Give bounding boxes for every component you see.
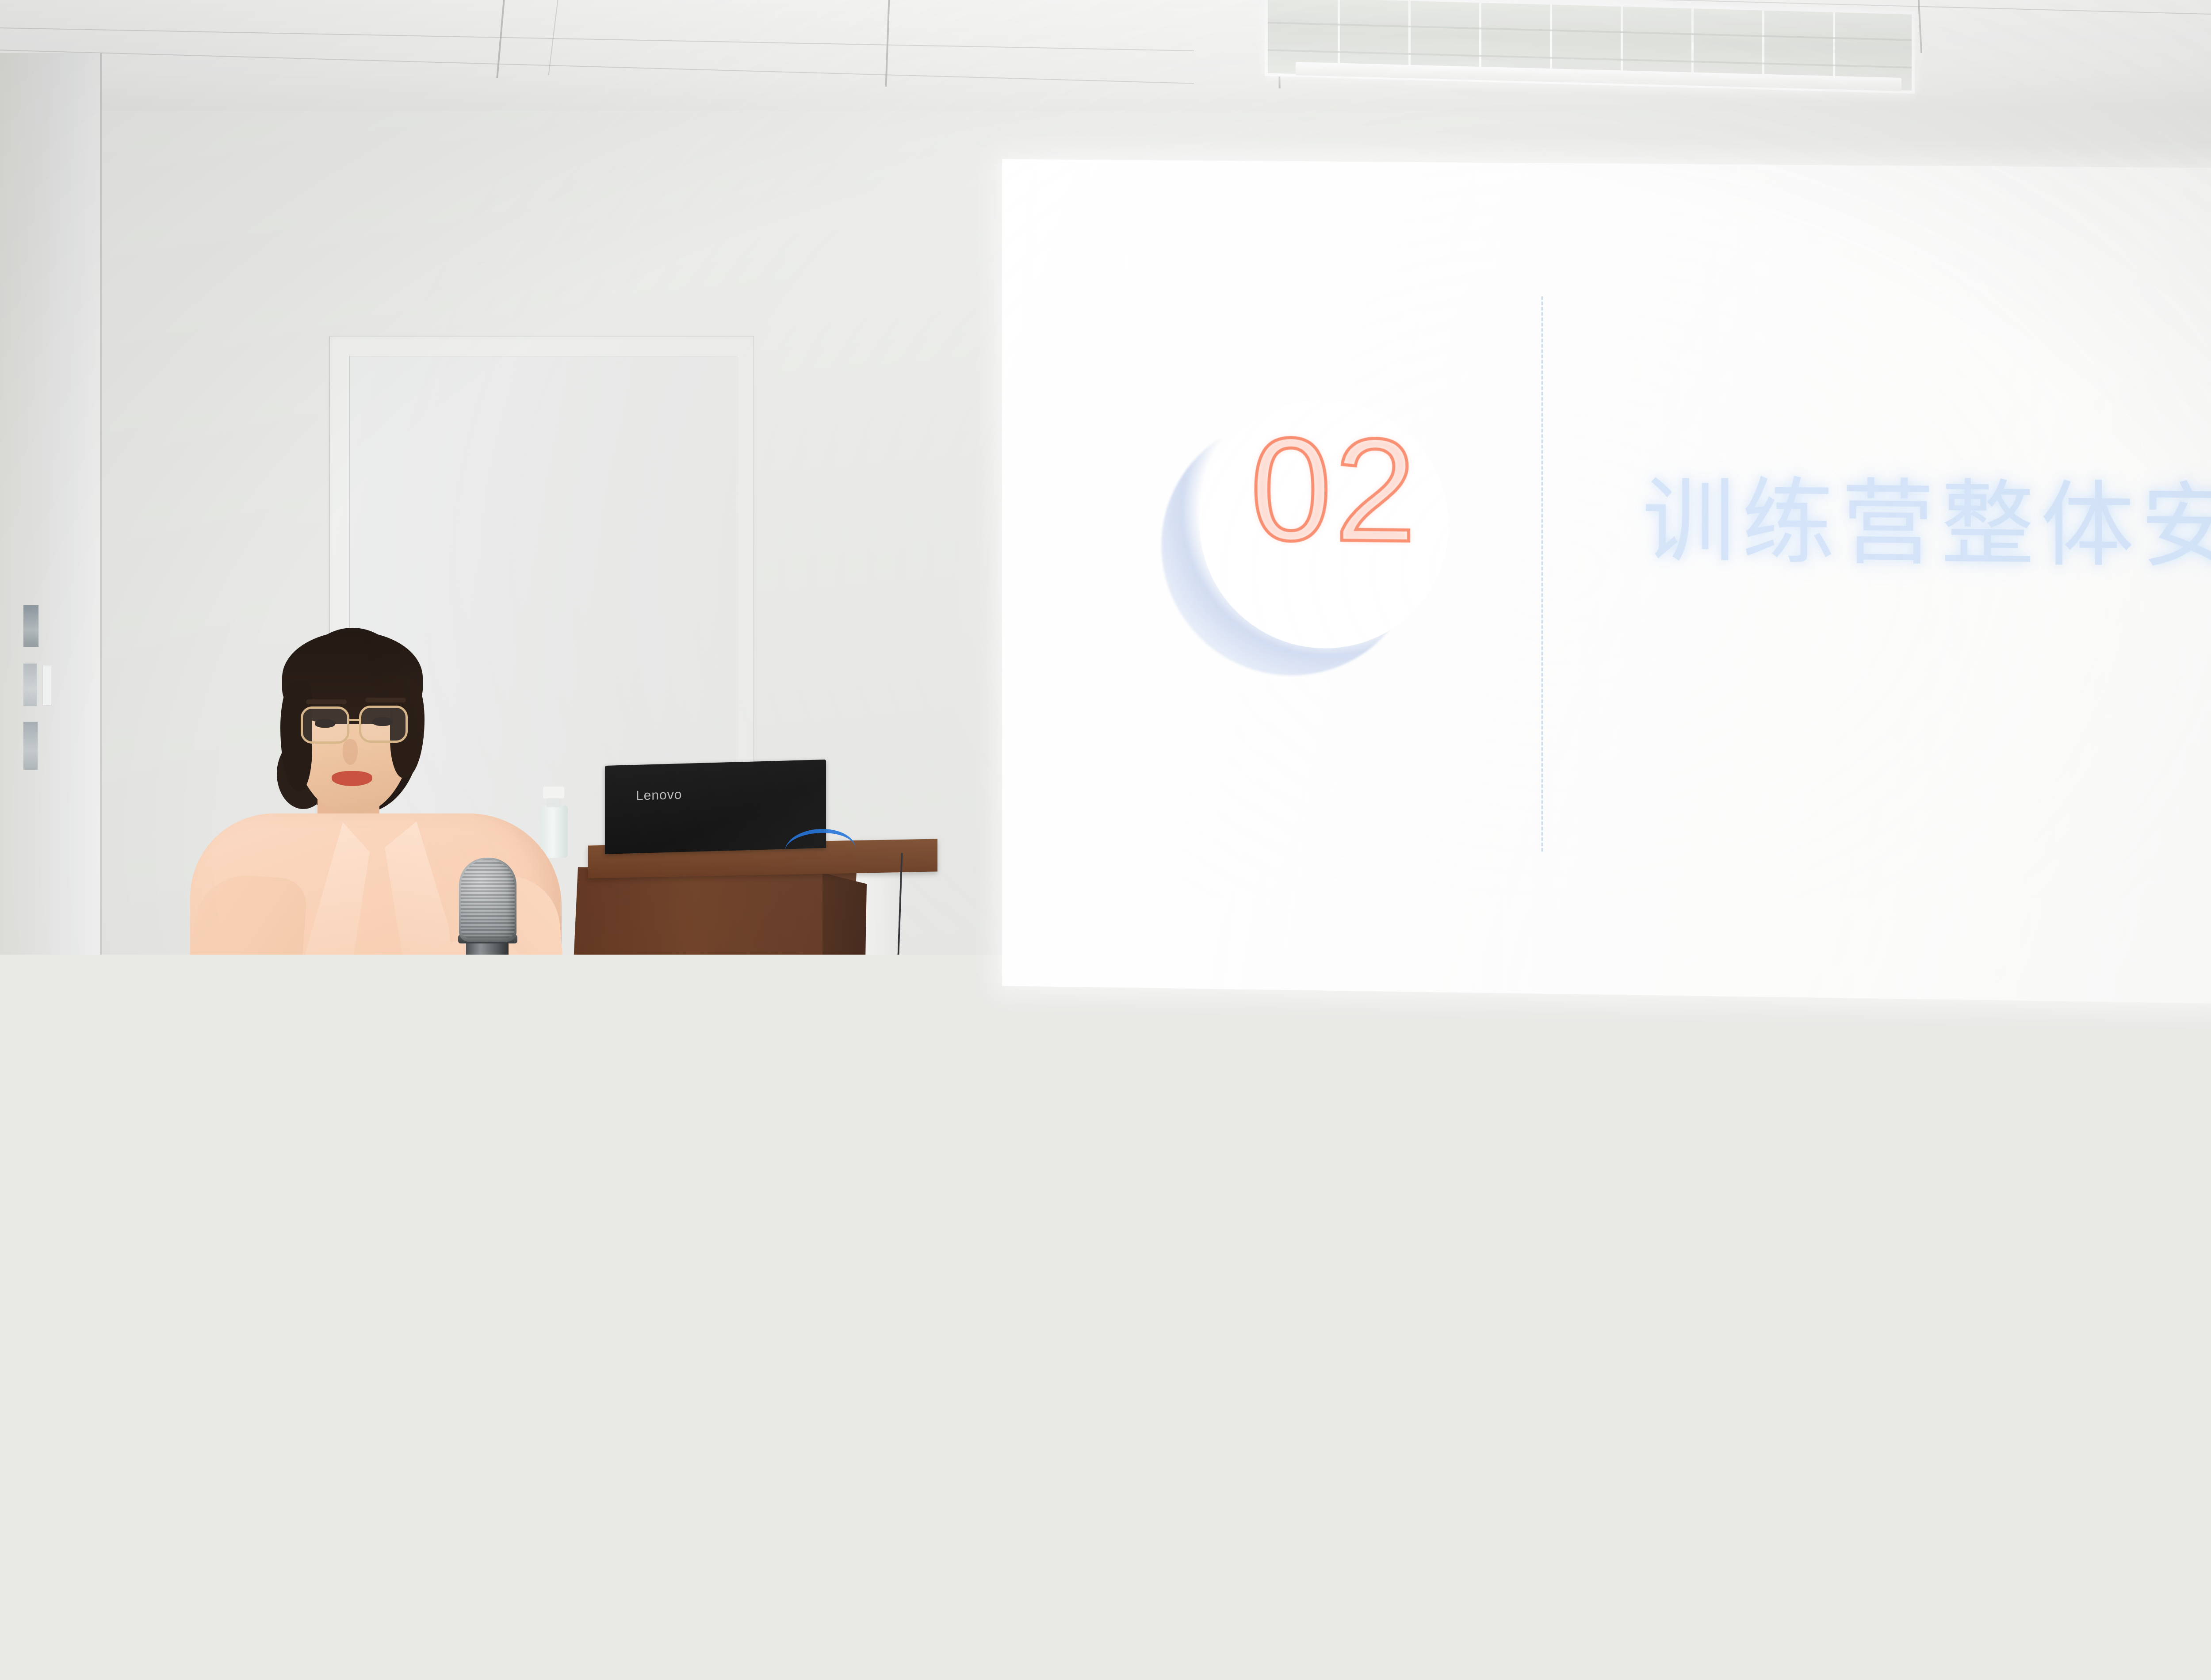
slide-title: 训练营整体安排: [1642, 475, 2211, 575]
hand-left: [309, 1220, 405, 1309]
eyeglasses-lens-left: [301, 706, 349, 744]
laptop-brand-label: Lenovo: [636, 787, 689, 803]
eyebrow-right: [365, 698, 406, 703]
floor-device: [866, 1426, 904, 1454]
data-outlet-plate[interactable]: [23, 663, 37, 706]
mouth: [332, 771, 372, 786]
eyeglasses-bridge: [348, 719, 361, 721]
wall-corner-edge: [100, 53, 102, 1468]
eyebrow-left: [306, 699, 347, 704]
slide-section-number: 02: [1250, 416, 1419, 564]
nose: [343, 739, 358, 765]
data-outlet-plate[interactable]: [42, 665, 51, 706]
foreground-bottle-cap: [106, 1281, 137, 1301]
power-outlet-plate[interactable]: [23, 722, 38, 770]
eyeglasses-lens-right: [359, 706, 408, 743]
projection-screen: 02 训练营整体安排: [1002, 159, 2211, 1004]
baseboard-right: [840, 1317, 2211, 1340]
stage-edge-trim: [0, 1565, 2211, 1580]
stage-face: [0, 1578, 2211, 1680]
conference-room-photo: 02 训练营整体安排 Lenovo: [0, 0, 2211, 1680]
slide-divider: [1541, 296, 1543, 851]
light-switch-plate[interactable]: [23, 605, 39, 647]
left-wall: [0, 53, 102, 1468]
microphone-mesh: [461, 859, 515, 938]
microphone-handle[interactable]: [466, 940, 509, 1130]
slide-surface: 02 训练营整体安排: [1002, 159, 2211, 1004]
